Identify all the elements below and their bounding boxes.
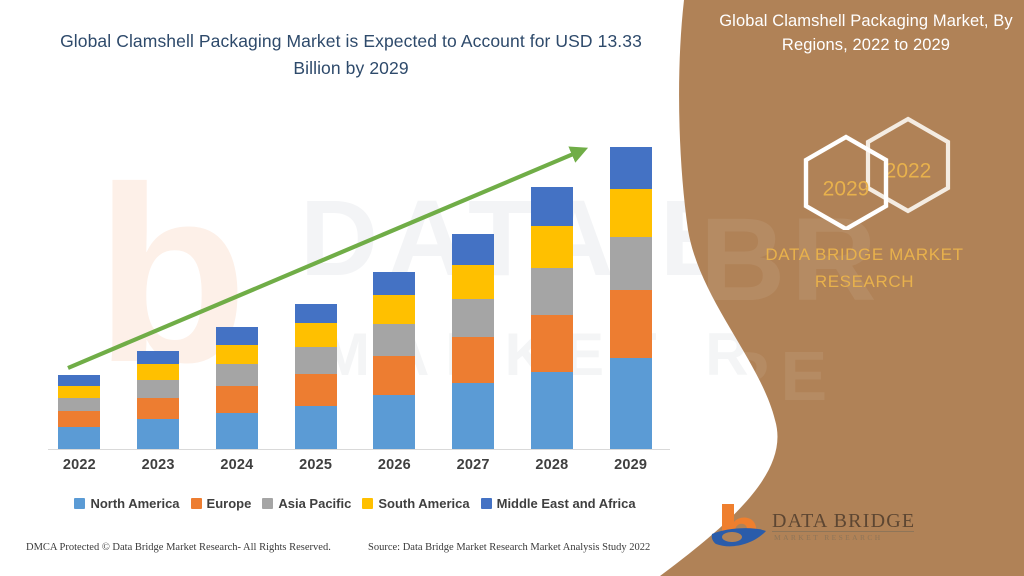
x-axis-label-2023: 2023	[137, 457, 179, 473]
bar-segment-2028-asia-pacific[interactable]	[531, 268, 573, 315]
bar-segment-2025-europe[interactable]	[295, 374, 337, 406]
right-panel-title: Global Clamshell Packaging Market, By Re…	[716, 10, 1016, 58]
x-axis-label-2022: 2022	[58, 457, 100, 473]
chart-plot-area	[40, 120, 670, 450]
bar-segment-2024-south-america[interactable]	[216, 345, 258, 365]
bar-segment-2029-south-america[interactable]	[610, 189, 652, 236]
logo-wordmark: DATA BRIDGE	[772, 510, 915, 533]
bar-segment-2024-europe[interactable]	[216, 386, 258, 412]
bar-segment-2022-europe[interactable]	[58, 411, 100, 427]
x-axis-line	[48, 449, 670, 450]
data-bridge-logo: DATA BRIDGE MARKET RESEARCH	[710, 500, 940, 562]
hexagon-2029-label: 2029	[823, 178, 870, 201]
bar-segment-2026-middle-east-and-africa[interactable]	[373, 272, 415, 296]
bar-segment-2029-asia-pacific[interactable]	[610, 237, 652, 291]
bar-segment-2026-europe[interactable]	[373, 356, 415, 396]
brand-name-line2: RESEARCH	[712, 272, 1017, 292]
bar-segment-2022-asia-pacific[interactable]	[58, 398, 100, 411]
bar-segment-2024-north-america[interactable]	[216, 413, 258, 449]
hexagon-badge-group: 2022 2029	[780, 115, 980, 230]
bar-segment-2023-middle-east-and-africa[interactable]	[137, 351, 179, 364]
bar-segment-2023-asia-pacific[interactable]	[137, 380, 179, 398]
bar-segment-2029-north-america[interactable]	[610, 358, 652, 449]
bar-segment-2029-europe[interactable]	[610, 290, 652, 357]
legend-swatch-icon	[481, 498, 492, 509]
bar-segment-2027-asia-pacific[interactable]	[452, 299, 494, 337]
x-axis-label-2025: 2025	[295, 457, 337, 473]
infographic-canvas: b DATA BRIDGE MARKET RESEARCH Global Cla…	[0, 0, 1024, 576]
right-panel-content: Global Clamshell Packaging Market, By Re…	[722, 0, 1024, 576]
bar-segment-2027-north-america[interactable]	[452, 383, 494, 449]
bar-segment-2024-middle-east-and-africa[interactable]	[216, 327, 258, 344]
x-axis-label-2029: 2029	[610, 457, 652, 473]
bar-segment-2024-asia-pacific[interactable]	[216, 364, 258, 386]
legend-label: North America	[90, 496, 179, 511]
bar-segment-2028-south-america[interactable]	[531, 226, 573, 268]
footer-dmca-text: DMCA Protected © Data Bridge Market Rese…	[26, 542, 331, 553]
footer-bar: DMCA Protected © Data Bridge Market Rese…	[0, 540, 690, 570]
bar-segment-2025-middle-east-and-africa[interactable]	[295, 304, 337, 324]
logo-divider	[772, 531, 914, 532]
bar-segment-2023-south-america[interactable]	[137, 364, 179, 380]
bar-segment-2026-asia-pacific[interactable]	[373, 324, 415, 356]
chart-title: Global Clamshell Packaging Market is Exp…	[46, 28, 656, 82]
bar-segment-2028-middle-east-and-africa[interactable]	[531, 187, 573, 226]
bar-2025[interactable]	[295, 304, 337, 449]
legend-label: Middle East and Africa	[497, 496, 636, 511]
legend-item-north-america[interactable]: North America	[74, 496, 179, 511]
x-axis-label-2027: 2027	[452, 457, 494, 473]
bar-segment-2025-asia-pacific[interactable]	[295, 347, 337, 373]
bar-segment-2025-north-america[interactable]	[295, 406, 337, 450]
legend-swatch-icon	[191, 498, 202, 509]
legend-item-south-america[interactable]: South America	[362, 496, 469, 511]
legend-label: South America	[378, 496, 469, 511]
bar-segment-2027-middle-east-and-africa[interactable]	[452, 234, 494, 265]
x-axis-label-2024: 2024	[216, 457, 258, 473]
logo-mark-icon	[710, 500, 770, 556]
chart-legend: North AmericaEuropeAsia PacificSouth Ame…	[40, 492, 670, 514]
logo-tagline: MARKET RESEARCH	[774, 533, 883, 542]
bar-2026[interactable]	[373, 272, 415, 449]
hexagon-2022-label: 2022	[885, 160, 932, 183]
bar-segment-2027-europe[interactable]	[452, 337, 494, 383]
bar-segment-2028-north-america[interactable]	[531, 372, 573, 449]
legend-swatch-icon	[74, 498, 85, 509]
legend-swatch-icon	[362, 498, 373, 509]
legend-item-asia-pacific[interactable]: Asia Pacific	[262, 496, 351, 511]
bar-segment-2023-europe[interactable]	[137, 398, 179, 419]
bar-group	[40, 129, 670, 449]
x-axis-label-2028: 2028	[531, 457, 573, 473]
bar-segment-2029-middle-east-and-africa[interactable]	[610, 147, 652, 189]
x-axis-label-2026: 2026	[373, 457, 415, 473]
bar-2023[interactable]	[137, 351, 179, 449]
bar-segment-2026-north-america[interactable]	[373, 395, 415, 449]
bar-2024[interactable]	[216, 327, 258, 449]
bar-segment-2022-north-america[interactable]	[58, 427, 100, 449]
bar-segment-2026-south-america[interactable]	[373, 295, 415, 323]
bar-segment-2028-europe[interactable]	[531, 315, 573, 371]
legend-item-middle-east-and-africa[interactable]: Middle East and Africa	[481, 496, 636, 511]
bar-2022[interactable]	[58, 375, 100, 449]
footer-source-text: Source: Data Bridge Market Research Mark…	[368, 542, 650, 553]
legend-label: Asia Pacific	[278, 496, 351, 511]
bar-segment-2022-south-america[interactable]	[58, 386, 100, 397]
bar-segment-2022-middle-east-and-africa[interactable]	[58, 375, 100, 386]
bar-segment-2023-north-america[interactable]	[137, 419, 179, 449]
legend-swatch-icon	[262, 498, 273, 509]
bar-2027[interactable]	[452, 234, 494, 449]
x-axis-labels: 20222023202420252026202720282029	[40, 452, 670, 478]
bar-2029[interactable]	[610, 147, 652, 449]
brand-name-line1: DATA BRIDGE MARKET	[712, 245, 1017, 265]
bar-segment-2025-south-america[interactable]	[295, 323, 337, 347]
bar-segment-2027-south-america[interactable]	[452, 265, 494, 299]
bar-2028[interactable]	[531, 187, 573, 449]
legend-item-europe[interactable]: Europe	[191, 496, 252, 511]
legend-label: Europe	[207, 496, 252, 511]
